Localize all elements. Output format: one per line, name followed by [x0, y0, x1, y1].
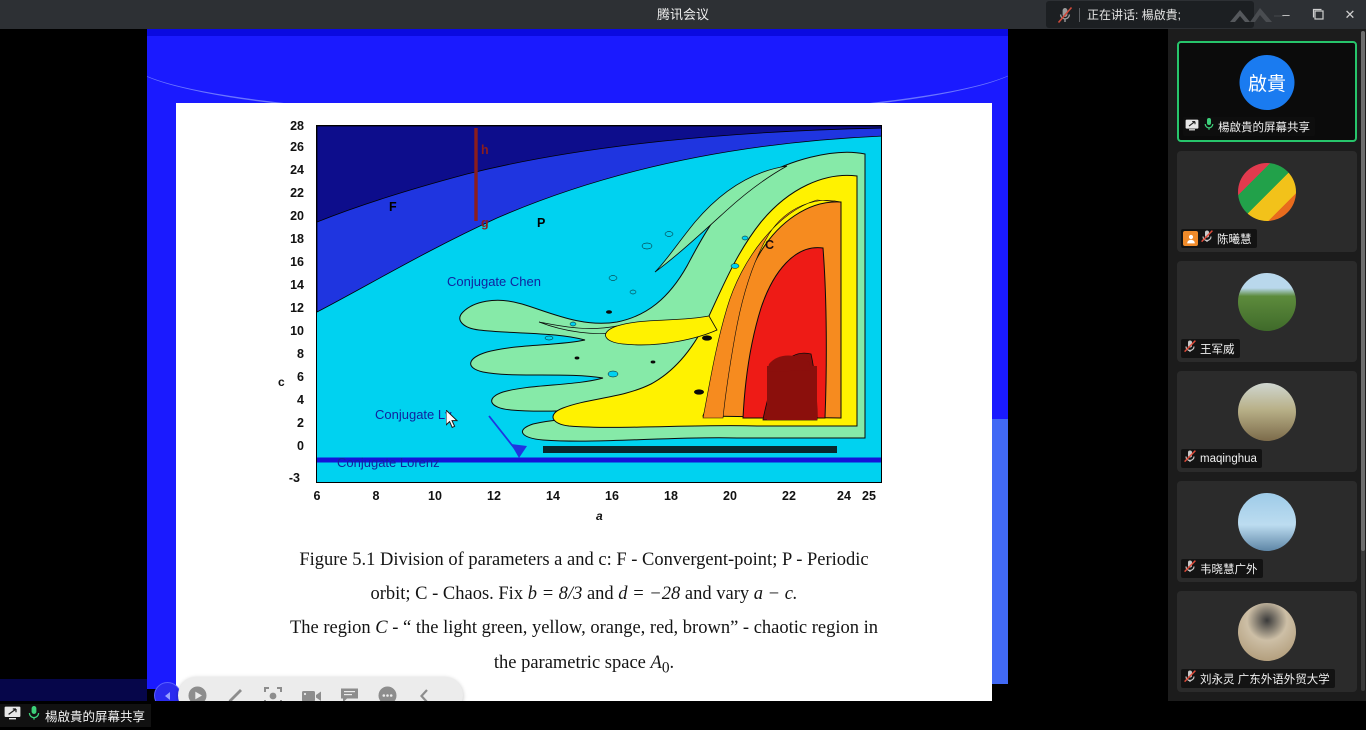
x-tick-22: 22	[774, 489, 804, 503]
region-label-C: C	[765, 238, 774, 252]
x-tick-20: 20	[715, 489, 745, 503]
y-tick-28: 28	[270, 119, 304, 133]
y-tick-24: 24	[270, 163, 304, 177]
y-tick-minus3: -3	[266, 471, 300, 485]
marker-label-g: g	[481, 216, 489, 230]
mouse-cursor	[446, 410, 459, 429]
participant-name: 王军威	[1200, 341, 1235, 357]
mic-muted-icon	[1183, 339, 1197, 358]
avatar	[1238, 383, 1296, 441]
x-tick-12: 12	[479, 489, 509, 503]
avatar	[1238, 493, 1296, 551]
y-tick-14: 14	[270, 278, 304, 292]
window-controls: – ✕	[1270, 0, 1366, 29]
participant-tile-1[interactable]: 陈曦慧	[1177, 151, 1357, 252]
x-tick-10: 10	[420, 489, 450, 503]
caption-l2-f: a − c.	[754, 584, 798, 604]
slide-page: c a 28 26 24 22 20 18 16 14 12 10 8 6 4 …	[176, 103, 992, 713]
y-tick-10: 10	[270, 324, 304, 338]
region-label-F: F	[389, 200, 397, 214]
microphone-icon	[27, 705, 41, 726]
participant-namebar: 韦晓慧广外	[1181, 559, 1263, 578]
x-tick-6: 6	[302, 489, 332, 503]
x-axis-label: a	[596, 509, 603, 523]
share-status-text: 楊啟貴的屏幕共享	[45, 706, 145, 725]
y-tick-2: 2	[270, 416, 304, 430]
region-label-conjugate-lv: Conjugate Lv	[375, 407, 452, 422]
share-status-pill: 楊啟貴的屏幕共享	[0, 704, 151, 727]
screen-share-icon	[4, 706, 21, 725]
region-label-conjugate-chen: Conjugate Chen	[447, 274, 541, 289]
participant-tile-5[interactable]: 刘永灵 广东外语外贸大学	[1177, 591, 1357, 692]
caption-l4-c: 0	[662, 659, 670, 676]
parameter-division-figure: c a 28 26 24 22 20 18 16 14 12 10 8 6 4 …	[176, 103, 992, 533]
maximize-button[interactable]	[1302, 0, 1334, 29]
active-speaker-indicator: 正在讲话: 楊啟貴;	[1046, 1, 1254, 28]
participant-namebar: maqinghua	[1181, 449, 1262, 468]
figure-caption: Figure 5.1 Division of parameters a and …	[190, 543, 978, 683]
y-tick-8: 8	[270, 347, 304, 361]
y-tick-22: 22	[270, 186, 304, 200]
avatar	[1238, 163, 1296, 221]
participant-name: 楊啟貴的屏幕共享	[1218, 119, 1310, 135]
x-tick-18: 18	[656, 489, 686, 503]
mic-muted-icon	[1183, 669, 1197, 688]
caption-l2-d: d = −28	[618, 584, 680, 604]
y-tick-26: 26	[270, 140, 304, 154]
contour-plot-svg	[317, 126, 882, 483]
avatar	[1238, 603, 1296, 661]
participant-name: 刘永灵 广东外语外贸大学	[1200, 671, 1330, 687]
participant-namebar: 陈曦慧	[1181, 229, 1257, 248]
participant-tile-2[interactable]: 王军威	[1177, 261, 1357, 362]
y-tick-20: 20	[270, 209, 304, 223]
caption-l2-c: and	[582, 584, 618, 604]
caption-l2-a: orbit; C - Chaos. Fix	[370, 584, 527, 604]
parameter-space-plot: F P C h g Conjugate Chen Conjugate Lv Co…	[316, 125, 882, 483]
caption-l3-a: The region	[290, 618, 375, 638]
status-bar: 楊啟貴的屏幕共享	[0, 701, 1366, 730]
caption-l4-a: the parametric space	[494, 653, 651, 673]
rail-scrollbar-thumb[interactable]	[1361, 31, 1365, 551]
caption-l4-b: A	[651, 653, 662, 673]
close-button[interactable]: ✕	[1334, 0, 1366, 29]
avatar	[1238, 273, 1296, 331]
mic-muted-icon	[1200, 229, 1214, 248]
y-tick-4: 4	[270, 393, 304, 407]
x-tick-8: 8	[361, 489, 391, 503]
participant-name: 陈曦慧	[1217, 231, 1252, 247]
region-label-P: P	[537, 216, 545, 230]
caption-l2-e: and vary	[680, 584, 753, 604]
screen: 腾讯会议 正在讲话: 楊啟貴; –	[0, 0, 1366, 730]
x-tick-14: 14	[538, 489, 568, 503]
caption-l3-c: - “ the light green, yellow, orange, red…	[388, 618, 878, 638]
caption-l2-b: b = 8/3	[528, 584, 583, 604]
shared-screen-viewport[interactable]: c a 28 26 24 22 20 18 16 14 12 10 8 6 4 …	[0, 29, 1168, 701]
marker-label-h: h	[481, 143, 489, 157]
participant-tile-0[interactable]: 啟貴	[1177, 41, 1357, 142]
participant-name: 韦晓慧广外	[1200, 561, 1258, 577]
mic-muted-icon	[1054, 4, 1076, 26]
caption-line-1: Figure 5.1 Division of parameters a and …	[190, 543, 978, 577]
y-tick-12: 12	[270, 301, 304, 315]
participants-list[interactable]: 啟貴	[1168, 29, 1366, 701]
screen-share-icon	[1185, 118, 1199, 136]
y-tick-0: 0	[270, 439, 304, 453]
caption-l4-d: .	[670, 653, 675, 673]
participant-tile-4[interactable]: 韦晓慧广外	[1177, 481, 1357, 582]
microphone-icon	[1203, 117, 1215, 136]
caption-line-3: The region C - “ the light green, yellow…	[190, 611, 978, 645]
caption-l3-b: C	[375, 618, 387, 638]
x-tick-25: 25	[854, 489, 884, 503]
active-speaker-label: 正在讲话: 楊啟貴;	[1087, 6, 1181, 23]
divider	[1079, 8, 1080, 22]
title-bar: 腾讯会议 正在讲话: 楊啟貴; –	[0, 0, 1366, 29]
y-tick-16: 16	[270, 255, 304, 269]
x-tick-16: 16	[597, 489, 627, 503]
mic-muted-icon	[1183, 449, 1197, 468]
participant-namebar: 楊啟貴的屏幕共享	[1183, 117, 1315, 136]
participant-name: maqinghua	[1200, 453, 1257, 465]
participants-rail[interactable]: 啟貴	[1168, 29, 1366, 730]
participant-namebar: 刘永灵 广东外语外贸大学	[1181, 669, 1335, 688]
y-tick-6: 6	[270, 370, 304, 384]
minimize-button[interactable]: –	[1270, 0, 1302, 29]
mic-muted-icon	[1183, 559, 1197, 578]
collapse-left-icon	[162, 690, 174, 702]
host-badge	[1183, 231, 1198, 246]
participant-tile-3[interactable]: maqinghua	[1177, 371, 1357, 472]
caption-line-2: orbit; C - Chaos. Fix b = 8/3 and d = −2…	[190, 577, 978, 611]
region-label-conjugate-lorenz: Conjugate Lorenz	[337, 455, 440, 470]
avatar: 啟貴	[1240, 55, 1295, 110]
slide-bottom-left-corner	[0, 679, 147, 701]
y-tick-18: 18	[270, 232, 304, 246]
participant-namebar: 王军威	[1181, 339, 1240, 358]
